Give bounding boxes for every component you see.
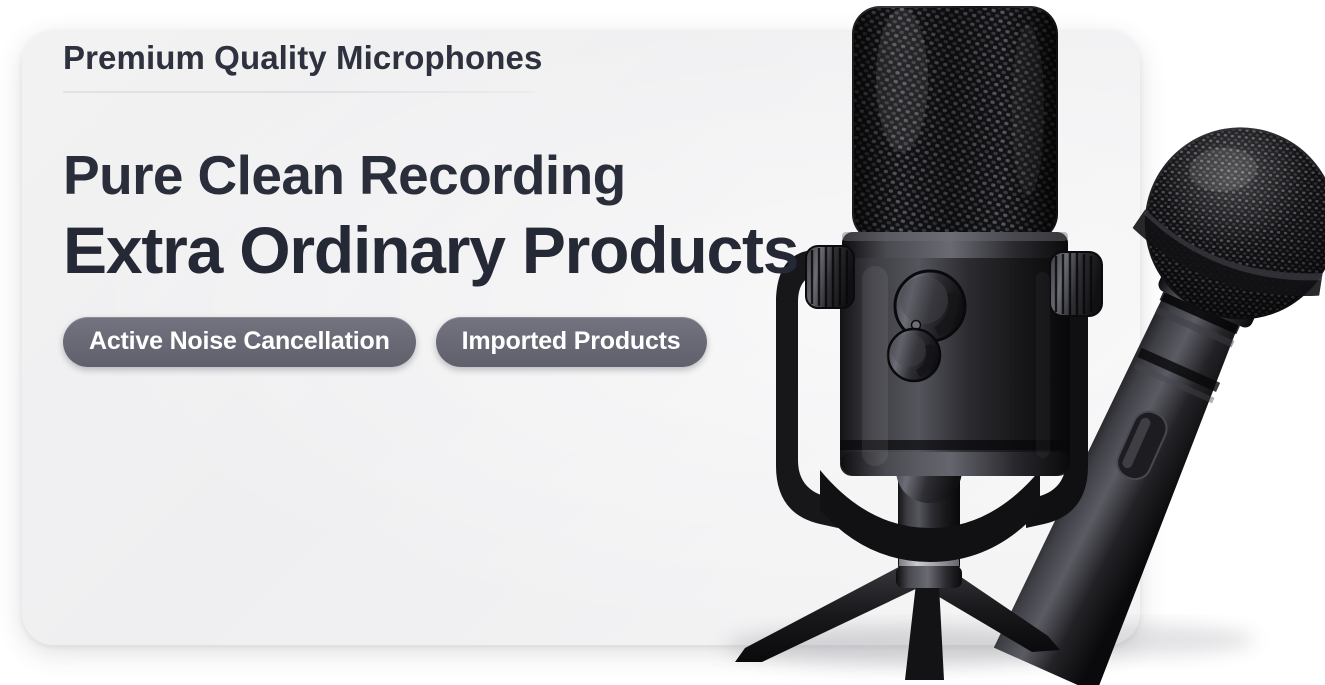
badge-active-noise-cancellation[interactable]: Active Noise Cancellation [63,317,416,367]
headline-line-2: Extra Ordinary Products [63,217,763,284]
feature-badge-row: Active Noise Cancellation Imported Produ… [63,317,763,367]
badge-imported-products[interactable]: Imported Products [436,317,707,367]
banner-copy: Premium Quality Microphones Pure Clean R… [63,40,763,367]
banner-eyebrow: Premium Quality Microphones [63,40,763,76]
headline-line-1: Pure Clean Recording [63,147,763,203]
eyebrow-divider [63,91,535,93]
